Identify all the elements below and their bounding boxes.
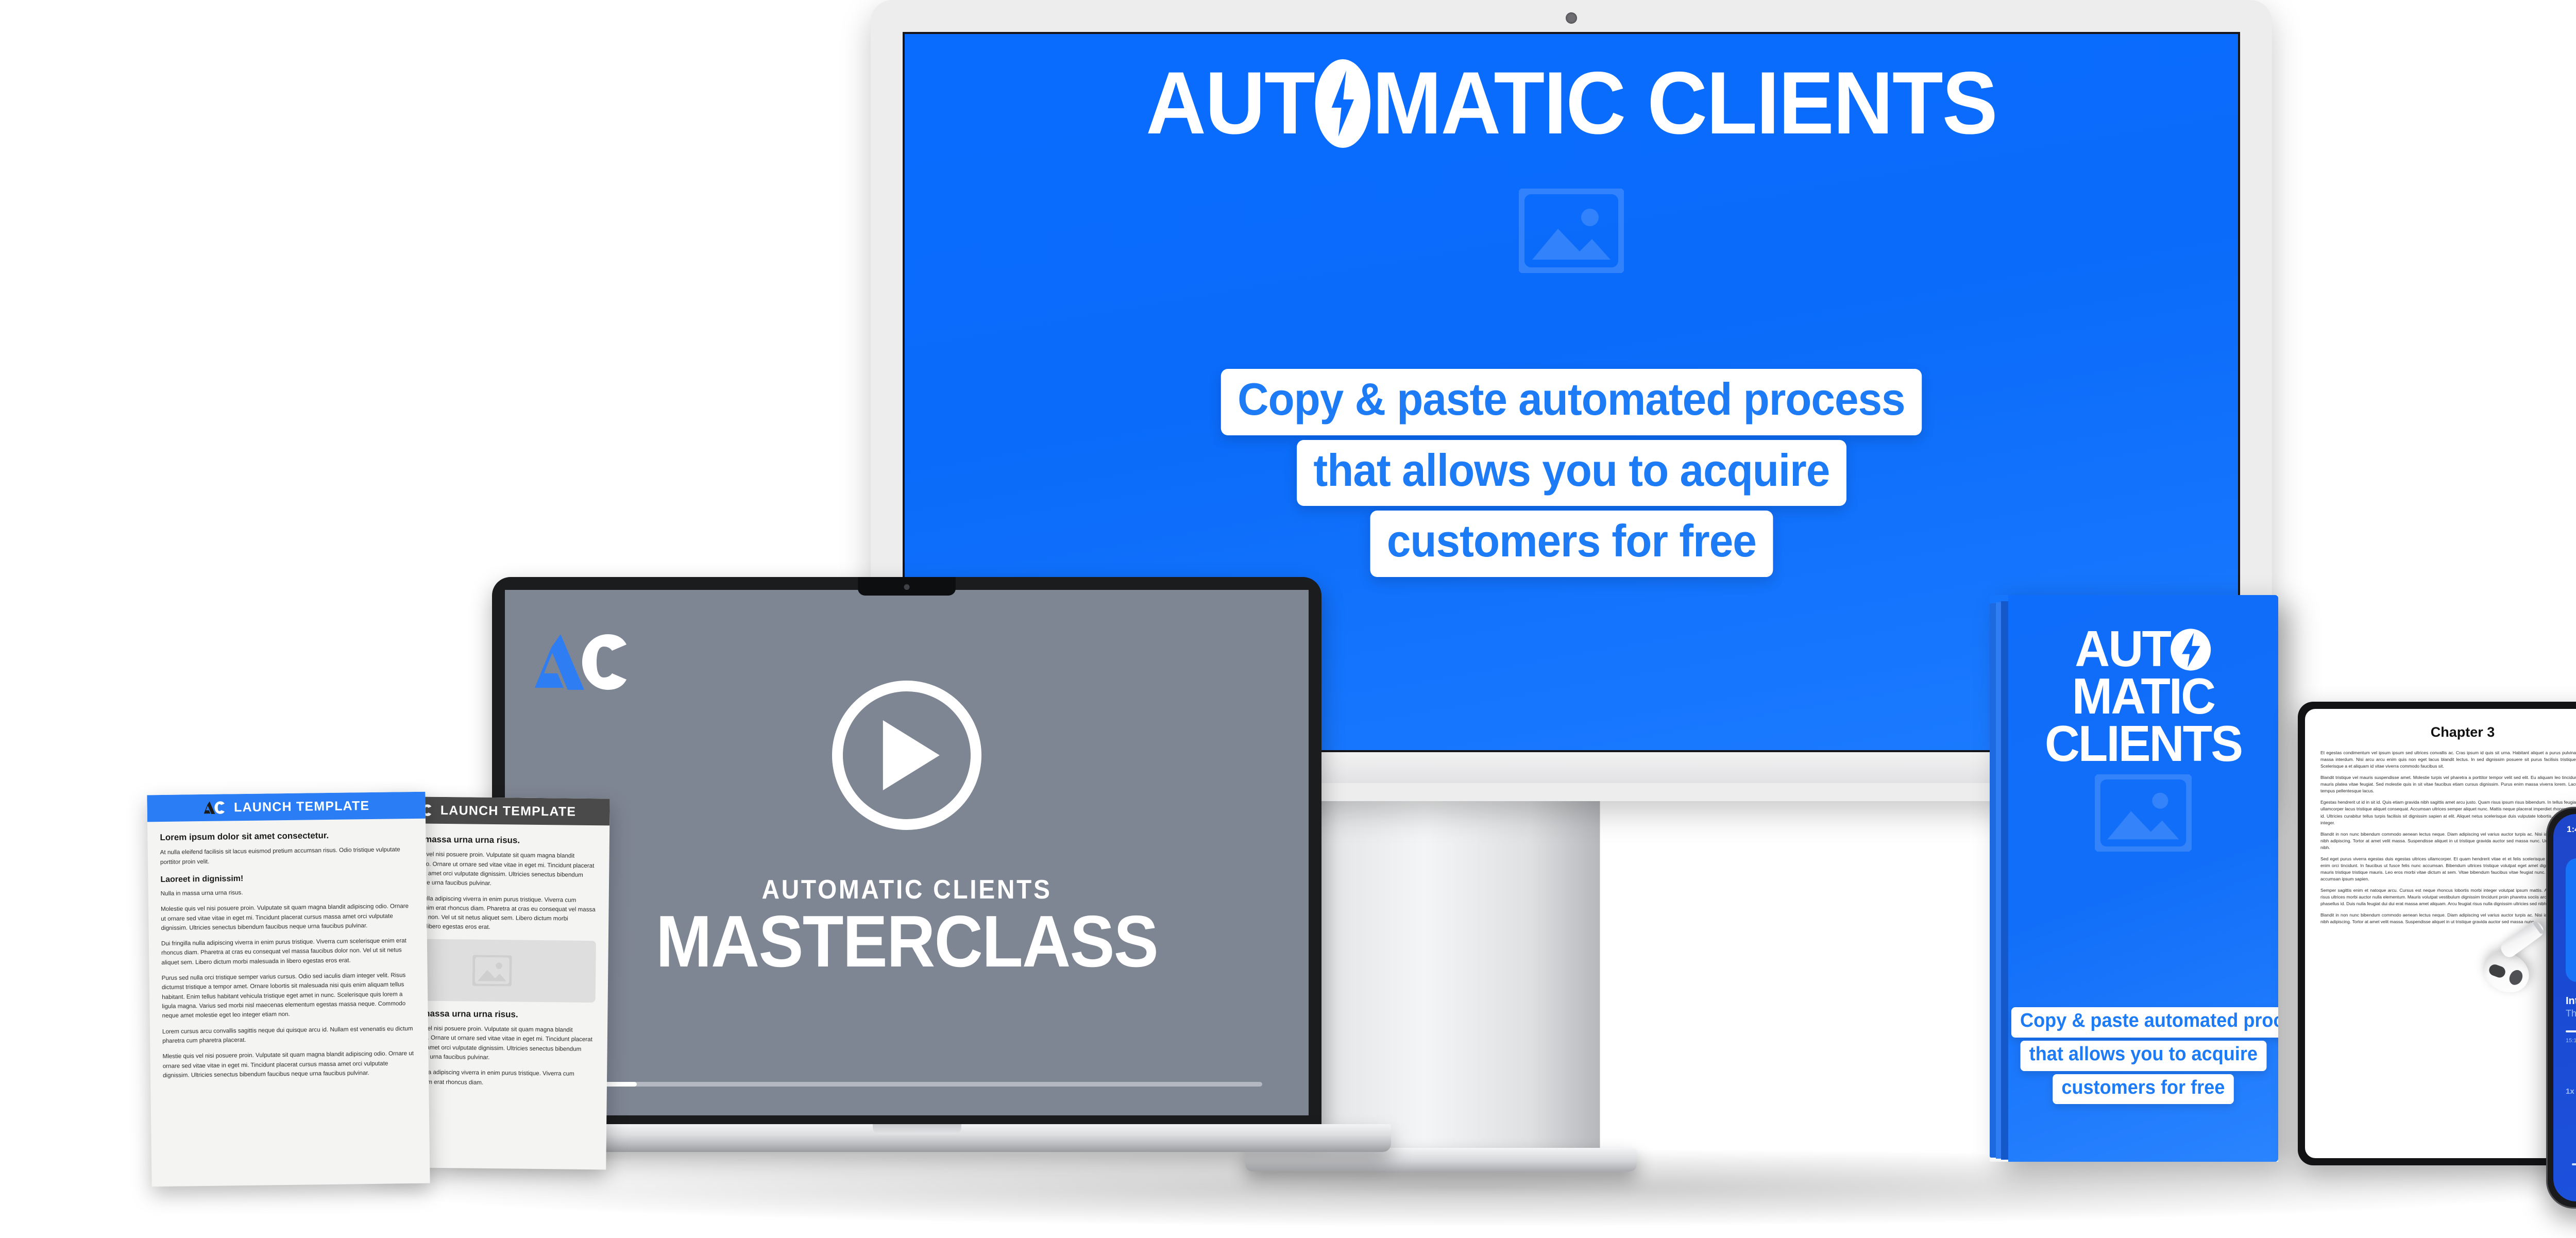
- claim-line-2: that allows you to acquire: [1297, 440, 1846, 506]
- claim-line-3: customers for free: [2053, 1074, 2233, 1105]
- product-mockup-scene: AUTMATIC CLIENTS Copy & paste automated …: [0, 0, 2576, 1238]
- tablet-paragraph: Et egestas condimentum vel ipsum ipsum s…: [2320, 750, 2576, 770]
- doc-body: Lorem ipsum dolor sit amet consectetur. …: [147, 819, 429, 1097]
- ac-logo: [535, 630, 626, 697]
- video-progress-bar[interactable]: [551, 1082, 1262, 1087]
- laptop-screen: AUTOMATIC CLIENTS MASTERCLASS: [505, 590, 1309, 1115]
- playback-controls: 1x 15: [2566, 1077, 2576, 1106]
- volume-slider[interactable]: [2572, 1163, 2576, 1165]
- laptop-title: MASTERCLASS: [537, 905, 1276, 978]
- elapsed-time: 15:16: [2566, 1038, 2576, 1044]
- book-cover: AUTMATIC CLIENTS Copy & paste automated …: [1990, 595, 2278, 1162]
- track-title: Introduction: [2566, 995, 2576, 1007]
- book-spine-outer: [1990, 603, 1996, 1158]
- doc-header-title: LAUNCH TEMPLATE: [440, 803, 577, 819]
- phone-device: 1:47: [2546, 807, 2576, 1209]
- book-title-label: The Best Book in The World: [2566, 1008, 2576, 1019]
- book-spine-inner: [2001, 601, 2008, 1160]
- playback-progress-fill: [2566, 1030, 2576, 1032]
- claim-line-3: customers for free: [1370, 511, 1773, 577]
- launch-template-doc-front: LAUNCH TEMPLATE Lorem ipsum dolor sit am…: [147, 792, 430, 1187]
- image-placeholder-icon: [1519, 189, 1624, 276]
- doc-paragraph: Molestie quis vel nisi posuere proin. Vu…: [161, 902, 415, 933]
- doc-subheading: Laoreet in dignissim!: [160, 872, 414, 885]
- book-front-cover: AUTMATIC CLIENTS Copy & paste automated …: [2008, 595, 2278, 1162]
- play-button-icon[interactable]: [832, 681, 981, 830]
- book-title-line2: CLIENTS: [2045, 715, 2242, 772]
- airpod-speaker-mesh: [2507, 968, 2525, 987]
- imac-headline: AUTMATIC CLIENTS: [945, 59, 2198, 147]
- doc-paragraph: Purus sed nulla orci tristique semper va…: [162, 971, 416, 1021]
- imac-headline-part2: MATIC CLIENTS: [1372, 54, 1997, 152]
- tablet-paragraph: Sed eget purus viverra egestas duis eges…: [2320, 856, 2576, 883]
- webcam-icon: [1566, 12, 1577, 24]
- airpod-sensor: [2487, 963, 2507, 979]
- doc-paragraph: Mlestie quis vel nisi posuere proin. Vul…: [162, 1049, 416, 1080]
- phone-body: 1:47: [2546, 807, 2576, 1209]
- claim-line-2: that allows you to acquire: [2020, 1041, 2266, 1071]
- image-placeholder-icon: [2095, 774, 2192, 854]
- status-time: 1:47: [2567, 824, 2576, 835]
- doc-header-title: LAUNCH TEMPLATE: [234, 799, 370, 815]
- playback-speed-button[interactable]: 1x: [2566, 1087, 2574, 1096]
- album-artwork: AUTOMATIC CLIENTS: [2566, 858, 2576, 982]
- imac-claims: Copy & paste automated process that allo…: [905, 369, 2238, 582]
- phone-screen: 1:47: [2553, 814, 2576, 1201]
- tablet-paragraph: Blandit in non nunc bibendum commodo aen…: [2320, 831, 2576, 851]
- volume-fill: [2572, 1163, 2576, 1165]
- doc-header: LAUNCH TEMPLATE: [147, 792, 426, 822]
- laptop-base-notch: [873, 1124, 961, 1134]
- claim-line-1: Copy & paste automated process: [1221, 369, 1922, 435]
- playback-times: 15:16 15:16 -10:53: [2566, 1038, 2576, 1044]
- book-spine-mid: [1996, 602, 2001, 1159]
- doc-paragraph: At nulla eleifend facilisis sit lacus eu…: [160, 845, 414, 867]
- doc-paragraph: Nulla in massa urna urna risus.: [161, 886, 414, 898]
- play-triangle: [883, 720, 940, 790]
- laptop-lid: AUTOMATIC CLIENTS MASTERCLASS: [492, 577, 1321, 1128]
- imac-headline-part1: AUT: [1146, 54, 1314, 152]
- doc-heading: Lorem ipsum dolor sit amet consectetur.: [160, 829, 413, 843]
- doc-paragraph: Dui fringilla nulla adipiscing viverra i…: [161, 936, 415, 968]
- tablet-paragraph: Egestas hendrerit ut id in sit id. Quis …: [2320, 799, 2576, 826]
- ac-logo: [203, 800, 226, 815]
- webcam-icon: [904, 584, 910, 590]
- book-claims: Copy & paste automated process that allo…: [2008, 1007, 2278, 1107]
- playback-progress-bar[interactable]: [2566, 1030, 2576, 1032]
- tablet-paragraph: Blandit tristique vel mauris suspendisse…: [2320, 774, 2576, 794]
- laptop-notch: [858, 577, 956, 596]
- chapter-title: Chapter 3: [2320, 724, 2576, 740]
- book-title: AUTMATIC CLIENTS: [2013, 625, 2273, 767]
- doc-paragraph: Lorem cursus arcu convallis sagittis neq…: [162, 1024, 416, 1046]
- phone-status-bar: 1:47: [2553, 824, 2576, 835]
- claim-line-1: Copy & paste automated process: [2011, 1007, 2278, 1038]
- track-metadata: Introduction The Best Book in The World …: [2566, 995, 2576, 1019]
- tablet-paragraph: Semper sagittis enim et natoque arcu. Cu…: [2320, 887, 2576, 907]
